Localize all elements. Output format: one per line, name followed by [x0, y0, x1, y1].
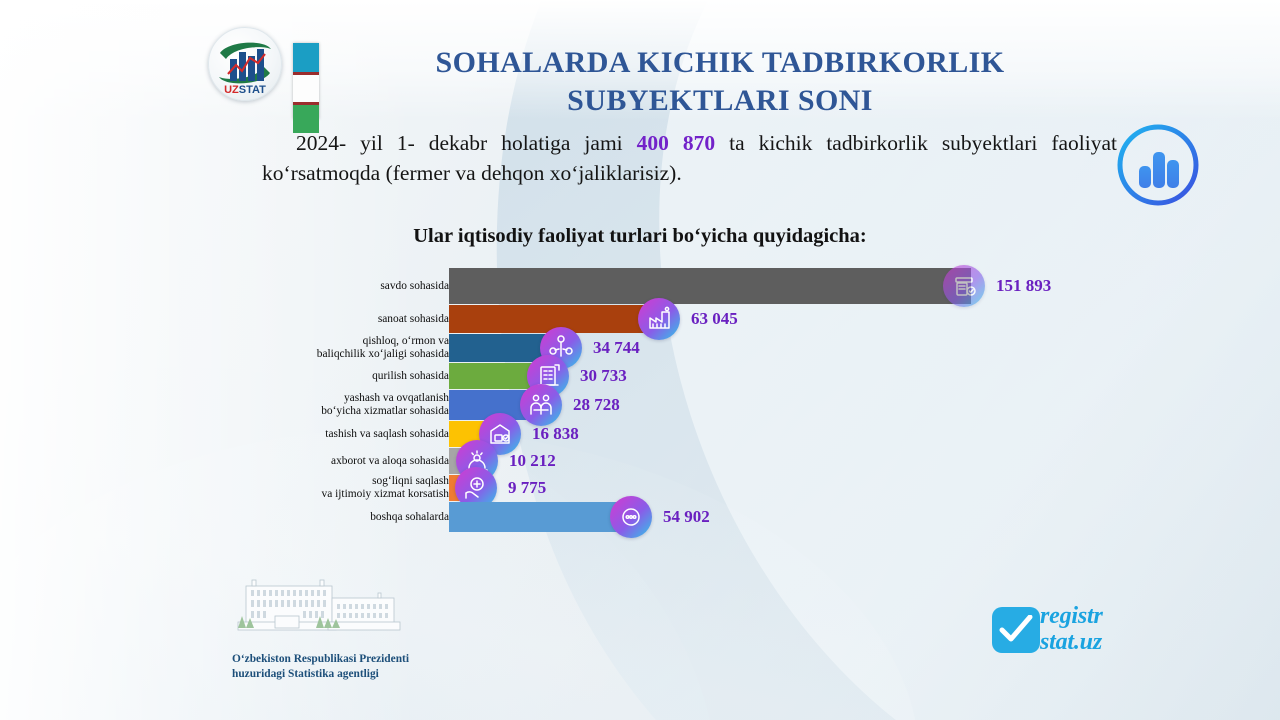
hospitality-icon: [520, 384, 562, 426]
bar-chart-row: tashish va saqlash sohasida16 838: [0, 421, 1280, 447]
bar-value-label: 10 212: [509, 451, 556, 471]
bar-chart-row: qishloq, o‘rmon va baliqchilik xo‘jaligi…: [0, 334, 1280, 362]
bar-value-label: 63 045: [691, 309, 738, 329]
bar-chart-badge-icon: [1113, 120, 1203, 210]
bar-category-label: qurilish sohasida: [189, 370, 449, 383]
intro-paragraph: 2024- yil 1- dekabr holatiga jami 400 87…: [262, 128, 1117, 188]
bar-category-label: sog‘liqni saqlash va ijtimoiy xizmat kor…: [189, 475, 449, 500]
intro-total-value: 400 870: [637, 131, 715, 155]
chart-subtitle: Ular iqtisodiy faoliyat turlari bo‘yicha…: [0, 225, 1280, 248]
uzstat-logo-icon: UZSTAT: [208, 27, 282, 101]
bar-chart-row: axborot va aloqa sohasida10 212: [0, 448, 1280, 474]
agency-name: O‘zbekiston Respublikasi Prezidenti huzu…: [232, 652, 409, 681]
bar-value-label: 151 893: [996, 276, 1051, 296]
bar-value-label: 28 728: [573, 395, 620, 415]
bar-category-label: savdo sohasida: [189, 280, 449, 293]
uzstat-logo: UZSTAT: [208, 27, 282, 101]
bar-chart-row: sanoat sohasida63 045: [0, 305, 1280, 333]
header: UZSTAT SOHALARDA KICHIK TADBIRKORLIK SUB…: [0, 14, 1280, 114]
intro-text-before: 2024- yil 1- dekabr holatiga jami: [296, 131, 637, 155]
government-building-illustration: [232, 578, 412, 644]
bar: [449, 268, 971, 304]
bar-chart-rows: savdo sohasida151 893sanoat sohasida63 0…: [0, 268, 1280, 533]
bar-chart-row: boshqa sohalarda54 902: [0, 502, 1280, 532]
bar-category-label: sanoat sohasida: [189, 313, 449, 326]
checkmark-icon: [992, 607, 1040, 653]
bar-chart-row: qurilish sohasida30 733: [0, 363, 1280, 389]
page-title: SOHALARDA KICHIK TADBIRKORLIK SUBYEKTLAR…: [360, 44, 1080, 120]
registrstat-line1: registr: [1040, 603, 1103, 629]
shop-icon: [943, 265, 985, 307]
bar-category-label: axborot va aloqa sohasida: [189, 455, 449, 468]
other-icon: [610, 496, 652, 538]
bar-value-label: 54 902: [663, 507, 710, 527]
bar-category-label: boshqa sohalarda: [189, 511, 449, 524]
uzbekistan-flag-icon: [293, 43, 319, 119]
registrstat-logo[interactable]: registr stat.uz: [992, 603, 1154, 659]
bar-value-label: 9 775: [508, 478, 546, 498]
svg-text:UZSTAT: UZSTAT: [224, 84, 266, 96]
bar-category-label: tashish va saqlash sohasida: [189, 428, 449, 441]
bar-chart-row: yashash va ovqatlanish bo‘yicha xizmatla…: [0, 390, 1280, 420]
bar-value-label: 30 733: [580, 366, 627, 386]
bar-value-label: 16 838: [532, 424, 579, 444]
bar-category-label: qishloq, o‘rmon va baliqchilik xo‘jaligi…: [189, 335, 449, 360]
registrstat-line2: stat.uz: [1040, 629, 1103, 655]
registrstat-wordmark: registr stat.uz: [1040, 603, 1103, 655]
bar-category-label: yashash va ovqatlanish bo‘yicha xizmatla…: [189, 392, 449, 417]
bar-value-label: 34 744: [593, 338, 640, 358]
